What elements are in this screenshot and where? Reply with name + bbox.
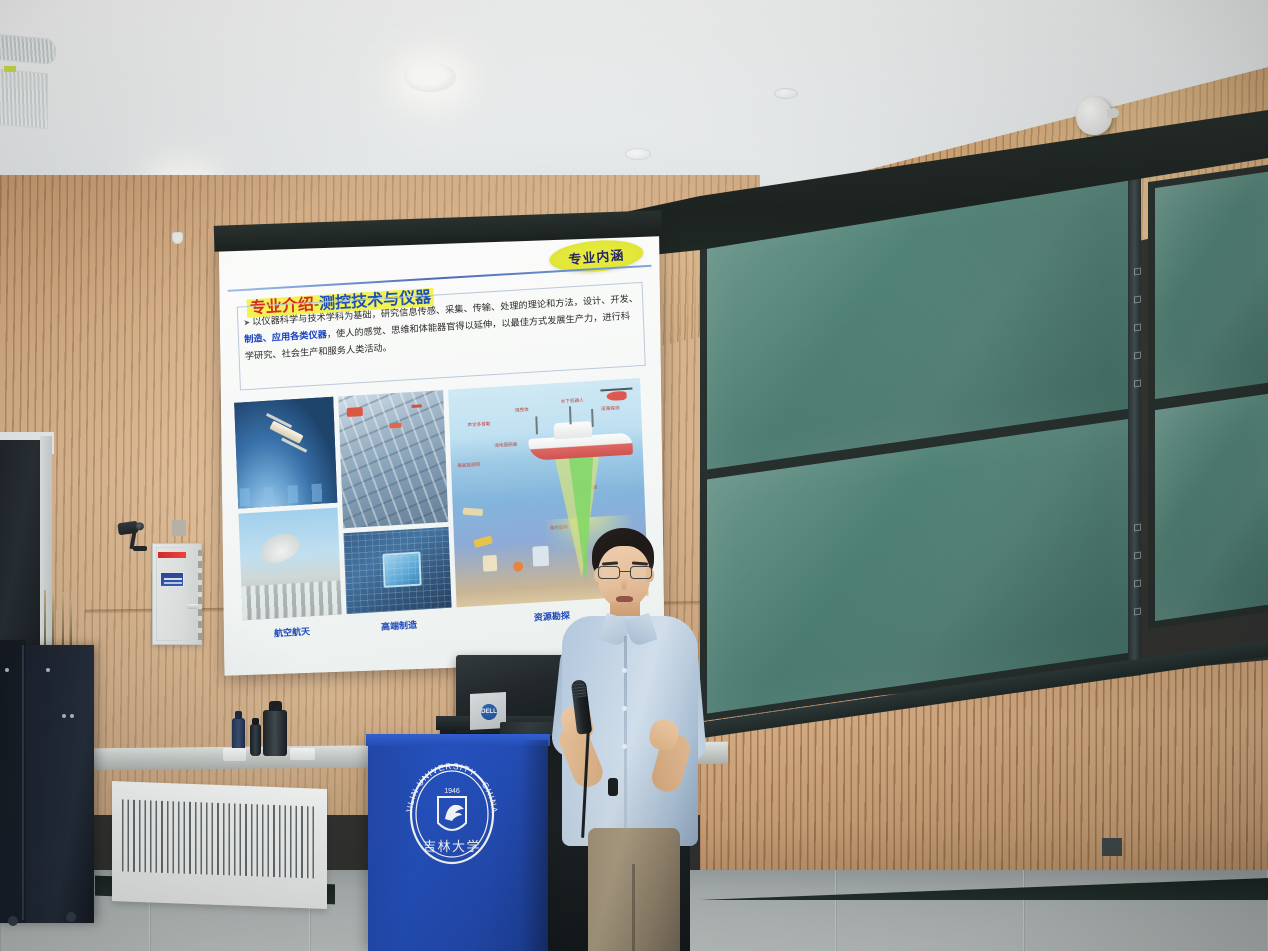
ceiling-speaker-icon — [625, 148, 651, 160]
presenter-shirt-placket — [624, 636, 627, 836]
camera-mount-base — [133, 546, 147, 551]
wall-control-cabinet[interactable] — [152, 543, 202, 645]
rack-indicator-icon — [5, 668, 9, 672]
slide-image-factory — [338, 390, 448, 528]
chalkboard-tick-mark — [1134, 380, 1141, 388]
thermos-flask[interactable] — [263, 710, 287, 756]
emblem-chinese-name: 吉林大学 — [423, 839, 481, 854]
ocean-label: 拖曳体 — [515, 407, 529, 414]
ocean-label: 深海探测 — [601, 405, 620, 412]
belt-pack-transmitter — [608, 778, 618, 796]
antenna-rod — [52, 596, 54, 648]
presenter-trouser-seam — [632, 864, 635, 951]
glasses-bridge — [620, 571, 630, 572]
sprinkler-head-icon — [172, 232, 183, 244]
chalkboard-tick-mark — [1134, 296, 1141, 304]
ceiling-downlight — [404, 62, 456, 92]
shirt-button — [622, 668, 627, 673]
lecture-hall-photo: 专业内涵 专业介绍-测控技术与仪器 ➤以仪器科学与技术学科为基础，研究信息传感、… — [0, 0, 1268, 951]
rack-indicator-icon — [46, 668, 50, 672]
ocean-label: 水下机器人 — [561, 398, 584, 405]
rack-indicator-icon — [62, 714, 66, 718]
chalkboard-tick-mark — [1134, 608, 1141, 616]
rack-caster-wheel — [66, 912, 76, 922]
chalkboard-tick-mark — [1134, 552, 1141, 560]
antenna-rod — [62, 592, 64, 648]
tissue-box[interactable] — [223, 748, 246, 761]
glasses-lens — [598, 566, 620, 579]
slide-body-line-2-highlight: 制造、应用各类仪器 — [244, 329, 327, 344]
water-bottle[interactable] — [250, 724, 261, 756]
ocean-label: 浅地层剖面 — [494, 442, 517, 449]
chalkboard-tick-mark — [1134, 352, 1141, 360]
chalkboard-panel — [1148, 384, 1268, 629]
emblem-swan-icon — [445, 805, 464, 821]
university-emblem: JILIN UNIVERSITY · CHINA 1946 吉林大学 — [398, 755, 506, 873]
chalkboard-slide-track[interactable] — [1128, 175, 1141, 677]
chalkboard-tick-mark — [1134, 324, 1141, 332]
chalkboard-tick-mark — [1134, 580, 1141, 588]
cabinet-hinge — [198, 550, 202, 640]
wall-outlet-icon[interactable] — [1102, 838, 1122, 856]
slide-caption-manufacturing: 高端制造 — [344, 616, 454, 636]
seafloor-equipment — [513, 561, 523, 572]
emblem-year: 1946 — [444, 788, 460, 795]
slide-caption-aerospace: 航空航天 — [240, 622, 344, 641]
wall-plate — [172, 520, 186, 536]
chalkboard-tick-mark — [1134, 524, 1141, 532]
slide-image-column-aerospace — [234, 397, 341, 621]
seafloor-equipment — [483, 555, 498, 572]
tissue-box[interactable] — [290, 748, 315, 760]
cabinet-warning-label — [158, 552, 186, 558]
slide-image-ground-station — [239, 508, 342, 621]
shirt-button — [622, 706, 627, 711]
seafloor-equipment — [473, 535, 492, 548]
cabinet-blue-sign — [160, 572, 184, 587]
rack-indicator-icon — [70, 714, 74, 718]
bullet-marker-icon: ➤ — [243, 318, 250, 327]
research-vessel-mast — [569, 406, 572, 424]
presenter-glasses-icon — [598, 566, 652, 580]
dell-logo: DELL — [481, 704, 497, 720]
slide-image-column-manufacturing — [338, 390, 451, 614]
ceiling-speaker-icon — [774, 88, 798, 99]
chalkboard-tick-mark — [1134, 268, 1141, 276]
equipment-rack-door-seam — [22, 645, 24, 920]
seafloor-equipment — [463, 508, 484, 517]
radiator-grille — [122, 799, 315, 878]
slide-image-semiconductor — [343, 527, 451, 614]
radiator-cover — [112, 781, 327, 909]
wall-speaker-icon — [1076, 97, 1112, 135]
ceiling-vent-round-icon — [0, 33, 56, 65]
antenna-rod — [70, 600, 72, 648]
slide-image-satellite — [234, 397, 337, 509]
presenter — [548, 528, 708, 951]
glasses-lens — [630, 566, 652, 579]
cabinet-handle[interactable] — [187, 604, 198, 609]
podium-shading — [520, 740, 548, 951]
vent-tag — [4, 66, 16, 72]
helicopter-icon — [606, 391, 626, 401]
door-jamb — [40, 436, 52, 676]
research-vessel-superstructure — [554, 421, 593, 439]
cabinet-panel — [156, 547, 198, 641]
ocean-label: 海底观测网 — [457, 462, 480, 469]
chalkboard-panel — [1148, 162, 1268, 407]
rack-caster-wheel — [8, 916, 18, 926]
ocean-label: 声学多普勒 — [467, 421, 490, 428]
shirt-button — [622, 744, 627, 749]
seafloor-equipment — [532, 546, 549, 567]
ceiling-vent-square-icon — [0, 67, 48, 129]
antenna-rod — [44, 590, 46, 648]
